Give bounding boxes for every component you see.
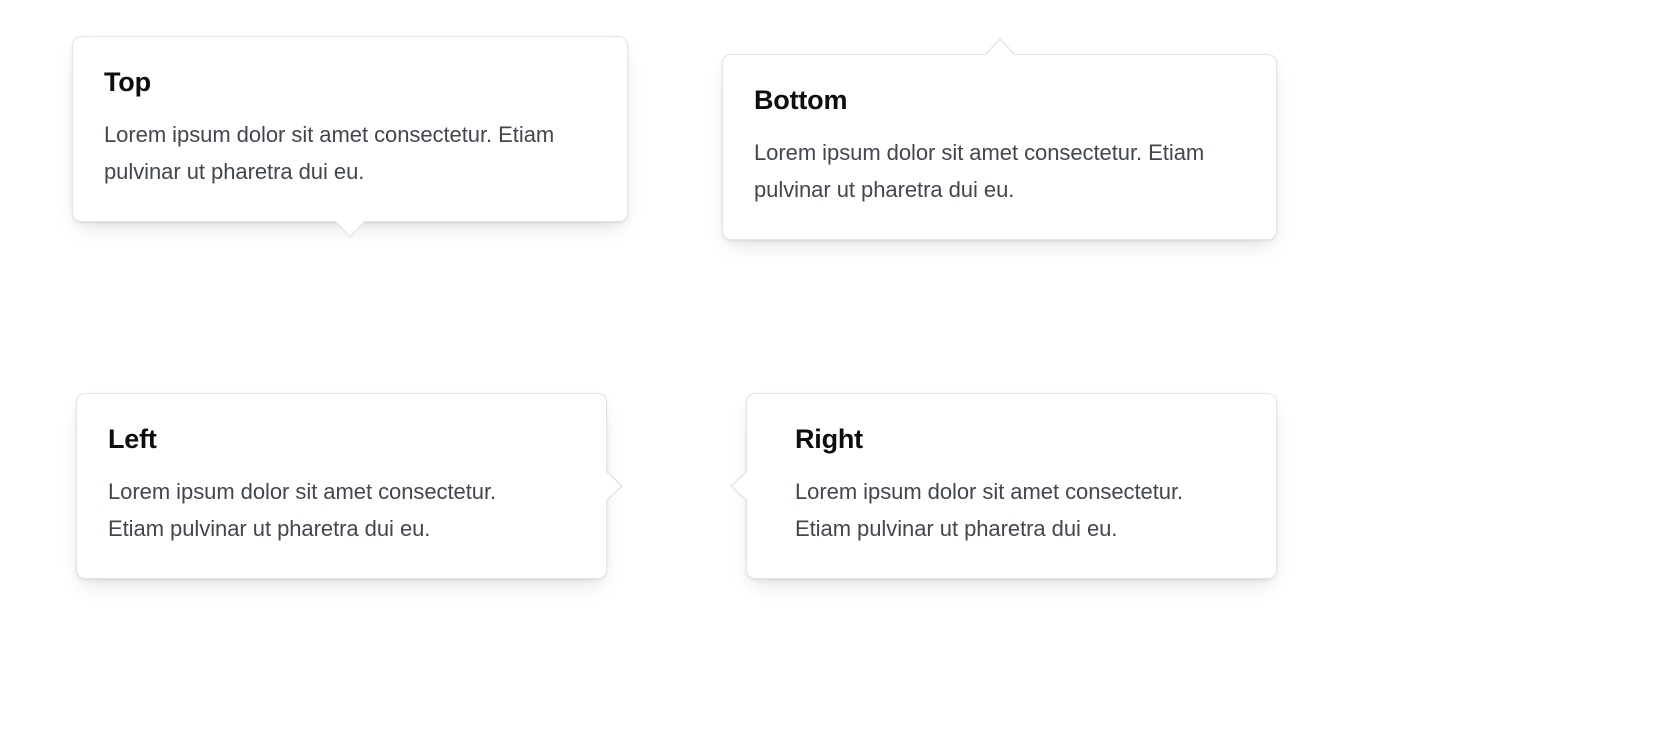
popover-left-content: Left Lorem ipsum dolor sit amet consecte… (77, 394, 606, 578)
popover-bottom-body: Lorem ipsum dolor sit amet consectetur. … (754, 135, 1246, 209)
popover-right-body: Lorem ipsum dolor sit amet consectetur. … (795, 474, 1242, 548)
popover-left[interactable]: Left Lorem ipsum dolor sit amet consecte… (76, 393, 607, 579)
popover-bottom[interactable]: Bottom Lorem ipsum dolor sit amet consec… (722, 54, 1277, 240)
popover-bottom-content: Bottom Lorem ipsum dolor sit amet consec… (723, 55, 1276, 239)
popover-bottom-title: Bottom (754, 85, 1246, 115)
popover-right-content: Right Lorem ipsum dolor sit amet consect… (747, 394, 1276, 578)
popover-top-title: Top (104, 67, 597, 97)
popover-top-content: Top Lorem ipsum dolor sit amet consectet… (73, 37, 627, 221)
popover-top[interactable]: Top Lorem ipsum dolor sit amet consectet… (72, 36, 628, 222)
popover-showcase: Top Lorem ipsum dolor sit amet consectet… (0, 0, 1672, 740)
popover-right-title: Right (795, 424, 1242, 454)
popover-right[interactable]: Right Lorem ipsum dolor sit amet consect… (746, 393, 1277, 579)
popover-top-body: Lorem ipsum dolor sit amet consectetur. … (104, 117, 597, 191)
popover-left-title: Left (108, 424, 554, 454)
popover-left-body: Lorem ipsum dolor sit amet consectetur. … (108, 474, 554, 548)
